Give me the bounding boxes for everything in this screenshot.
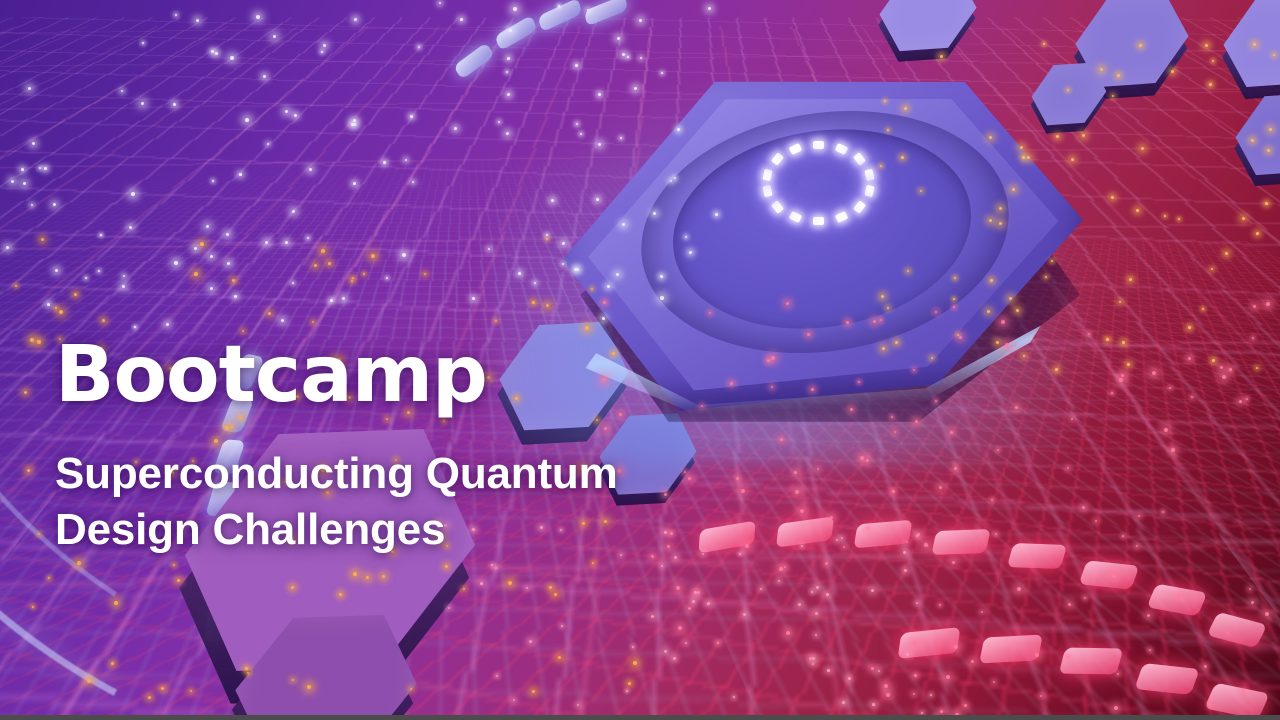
point-light [946, 675, 950, 679]
point-light [129, 226, 132, 229]
point-light [174, 261, 178, 265]
point-light [1136, 209, 1139, 212]
point-light [1111, 196, 1114, 199]
point-light [472, 297, 475, 300]
point-light [1212, 359, 1215, 362]
point-light [914, 674, 917, 677]
point-light [353, 182, 356, 185]
point-light [1251, 139, 1254, 142]
point-light [21, 168, 24, 171]
point-light [904, 569, 907, 572]
qubit-element [853, 153, 866, 167]
point-light [1016, 309, 1019, 312]
point-light [676, 586, 680, 590]
point-light [884, 684, 888, 688]
point-light [48, 577, 50, 579]
hexagon-block-top [222, 609, 430, 720]
point-light [952, 561, 955, 564]
point-light [1001, 320, 1005, 324]
point-light [825, 562, 828, 565]
point-light [371, 254, 375, 258]
point-light [194, 272, 198, 276]
point-light [173, 103, 176, 106]
point-light [798, 603, 801, 606]
point-light [383, 161, 386, 164]
point-light [1204, 665, 1207, 668]
point-light [1188, 326, 1191, 329]
point-light [620, 137, 622, 139]
point-light [1229, 368, 1232, 371]
qubit-element [789, 211, 802, 223]
point-light [1212, 60, 1214, 62]
point-light [148, 696, 151, 699]
point-light [779, 567, 783, 571]
point-light [196, 19, 199, 22]
point-light [997, 449, 999, 451]
qubit-element [864, 168, 874, 181]
point-light [930, 694, 932, 696]
qubit-element [834, 143, 847, 155]
point-light [815, 612, 818, 615]
point-light [858, 381, 860, 383]
slide-subtitle: Superconducting Quantum Design Challenge… [55, 446, 815, 559]
point-light [307, 685, 311, 689]
point-light [1209, 704, 1211, 706]
hexagon-block-top [1218, 0, 1280, 92]
point-light [495, 567, 497, 569]
point-light [954, 467, 957, 470]
point-light [1225, 252, 1228, 255]
point-light [166, 323, 169, 326]
point-light [1162, 511, 1164, 513]
point-light [940, 55, 943, 58]
point-light [1067, 89, 1069, 91]
point-light [913, 369, 915, 371]
point-light [131, 192, 135, 196]
point-light [1117, 673, 1119, 675]
point-light [661, 72, 663, 74]
point-light [786, 631, 790, 635]
point-light [1088, 333, 1090, 335]
point-light [939, 604, 941, 606]
point-light [353, 572, 357, 576]
point-light [1267, 149, 1270, 152]
point-light [546, 238, 548, 240]
point-light [211, 50, 214, 53]
point-light [602, 317, 605, 320]
point-light [1191, 396, 1193, 398]
point-light [1209, 83, 1212, 86]
point-light [1205, 44, 1208, 47]
point-light [591, 288, 593, 290]
point-light [628, 682, 631, 685]
point-light [626, 690, 628, 692]
point-light [996, 341, 999, 344]
point-light [733, 696, 735, 698]
point-light [239, 173, 242, 176]
point-light [558, 5, 560, 7]
contact-pad [931, 529, 991, 555]
page-title: Bootcamp [55, 336, 815, 414]
point-light [496, 675, 498, 677]
point-light [954, 645, 958, 649]
point-light [562, 242, 565, 245]
point-light [491, 564, 493, 566]
point-light [518, 272, 521, 275]
point-light [895, 341, 898, 344]
point-light [291, 586, 294, 589]
point-light [98, 270, 100, 272]
point-light [743, 613, 746, 616]
point-light [692, 600, 695, 603]
point-light [230, 56, 234, 60]
point-light [234, 295, 237, 298]
point-light [574, 268, 577, 271]
point-light [1017, 587, 1021, 591]
hexagon-block-top [1231, 89, 1280, 180]
point-light [850, 408, 853, 411]
point-light [330, 299, 333, 302]
point-light [677, 128, 680, 131]
point-light [913, 641, 917, 645]
point-light [1071, 158, 1074, 161]
point-light [1171, 70, 1174, 73]
point-light [886, 693, 890, 697]
point-light [598, 93, 601, 96]
point-light [498, 121, 500, 123]
point-light [30, 338, 34, 342]
point-light [508, 581, 512, 585]
qubit-element [763, 168, 773, 181]
point-light [402, 253, 406, 257]
point-light [549, 586, 552, 589]
point-light [940, 710, 943, 713]
point-light [1122, 341, 1125, 344]
point-light [507, 57, 510, 60]
point-light [1253, 305, 1256, 308]
point-light [653, 212, 656, 215]
point-light [1005, 343, 1009, 347]
point-light [715, 213, 718, 216]
point-light [1171, 448, 1175, 452]
point-light [872, 703, 875, 706]
point-light [1178, 218, 1180, 220]
point-light [848, 677, 851, 680]
point-light [1265, 202, 1268, 205]
point-light [901, 156, 904, 159]
point-light [285, 241, 288, 244]
point-light [212, 180, 214, 182]
qubit-element [864, 185, 874, 198]
contact-pad [1007, 543, 1067, 569]
point-light [509, 29, 512, 32]
point-light [39, 167, 41, 169]
qubit-element [789, 143, 802, 155]
point-light [339, 593, 342, 596]
point-light [842, 701, 845, 704]
point-light [562, 263, 564, 265]
point-light [957, 334, 959, 336]
qubit-element [834, 211, 847, 223]
point-light [1246, 398, 1248, 400]
point-light [816, 586, 819, 589]
point-light [87, 679, 91, 683]
point-light [880, 319, 882, 321]
point-light [546, 234, 548, 236]
point-light [846, 321, 849, 324]
point-light [964, 704, 967, 707]
point-light [321, 249, 325, 253]
point-light [1082, 506, 1085, 509]
point-light [678, 626, 682, 630]
point-light [454, 127, 457, 130]
point-light [100, 234, 102, 236]
point-light [532, 301, 535, 304]
point-light [1055, 368, 1058, 371]
point-light [77, 561, 81, 565]
point-light [55, 307, 57, 309]
presentation-slide: Bootcamp Superconducting Quantum Design … [0, 0, 1280, 720]
point-light [1035, 653, 1039, 657]
point-light [1152, 371, 1156, 375]
point-light [991, 499, 993, 501]
point-light [987, 310, 990, 313]
point-light [811, 591, 813, 593]
subtitle-line-1: Superconducting Quantum [55, 446, 815, 502]
point-light [268, 312, 271, 315]
point-light [694, 591, 697, 594]
contact-pad [1059, 647, 1124, 674]
point-light [561, 625, 563, 627]
point-light [232, 279, 235, 282]
point-light [386, 277, 388, 279]
point-light [134, 326, 136, 328]
point-light [114, 601, 118, 605]
point-light [1119, 378, 1123, 382]
qubit-element [763, 185, 773, 198]
point-light [263, 75, 266, 78]
point-light [1266, 302, 1270, 306]
point-light [689, 251, 692, 254]
point-light [887, 129, 889, 131]
point-light [1122, 535, 1124, 537]
point-light [292, 282, 294, 284]
point-light [495, 320, 497, 322]
point-light [1222, 375, 1226, 379]
point-light [529, 640, 532, 643]
point-light [867, 527, 869, 529]
point-light [460, 18, 463, 21]
point-light [410, 115, 413, 118]
point-light [1202, 308, 1204, 310]
point-light [1139, 44, 1142, 47]
point-light [328, 262, 331, 265]
point-light [215, 52, 218, 55]
point-light [1265, 612, 1269, 616]
point-light [111, 662, 114, 665]
point-light [175, 14, 177, 16]
point-light [551, 199, 554, 202]
point-light [1111, 392, 1113, 394]
point-light [354, 18, 357, 21]
point-light [632, 646, 634, 648]
point-light [903, 551, 906, 554]
hexagon-block [1231, 89, 1280, 180]
point-light [891, 416, 893, 418]
point-light [53, 203, 56, 206]
point-light [32, 606, 34, 608]
point-light [1022, 156, 1025, 159]
point-light [953, 298, 955, 300]
qubit-ring [748, 128, 888, 238]
point-light [1164, 215, 1166, 217]
point-light [633, 661, 637, 665]
point-light [990, 279, 993, 282]
point-light [314, 264, 317, 267]
subtitle-line-2: Design Challenges [55, 502, 815, 558]
point-light [906, 653, 909, 656]
point-light [1256, 232, 1259, 235]
point-light [950, 431, 953, 434]
point-light [1106, 338, 1109, 341]
point-light [102, 319, 105, 322]
point-light [513, 7, 517, 11]
point-light [673, 657, 676, 660]
qubit-element [813, 141, 824, 149]
point-light [1112, 574, 1116, 578]
point-light [585, 326, 589, 330]
point-light [884, 100, 886, 102]
point-light [245, 667, 248, 670]
point-light [351, 123, 354, 126]
point-light [1043, 43, 1045, 45]
contact-pad [979, 635, 1043, 664]
point-light [596, 198, 599, 201]
point-light [1127, 363, 1130, 366]
point-light [575, 64, 578, 67]
slide-text-block: Bootcamp Superconducting Quantum Design … [55, 336, 815, 559]
point-light [1045, 276, 1047, 278]
point-light [15, 285, 17, 287]
point-light [812, 657, 815, 660]
point-light [256, 15, 260, 19]
point-light [924, 543, 928, 547]
point-light [1056, 135, 1059, 138]
point-light [142, 42, 144, 44]
point-light [921, 712, 923, 714]
point-light [1114, 706, 1118, 710]
point-light [827, 669, 830, 672]
point-light [627, 56, 629, 58]
point-light [177, 579, 180, 582]
point-light [880, 165, 882, 167]
point-light [200, 242, 204, 246]
hexagon-block [222, 609, 430, 720]
point-light [660, 275, 663, 278]
point-light [74, 293, 77, 296]
point-light [664, 650, 667, 653]
point-light [37, 340, 41, 344]
point-light [1084, 597, 1086, 599]
point-light [1164, 428, 1168, 432]
point-light [59, 310, 63, 314]
point-light [507, 93, 510, 96]
point-light [1129, 278, 1132, 281]
qubit-element [853, 200, 866, 214]
point-light [1051, 260, 1053, 262]
point-light [935, 400, 937, 402]
point-light [622, 53, 625, 56]
qubit-element [771, 200, 784, 214]
point-light [607, 285, 610, 288]
qubit-element [771, 153, 784, 167]
qubit-element [813, 217, 824, 225]
point-light [1117, 74, 1120, 77]
point-light [445, 565, 448, 568]
point-light [44, 167, 47, 170]
point-light [1178, 594, 1181, 597]
point-light [892, 490, 895, 493]
point-light [826, 593, 829, 596]
point-light [1188, 357, 1191, 360]
point-light [860, 456, 864, 460]
point-light [47, 303, 50, 306]
point-light [294, 114, 297, 117]
point-light [85, 277, 87, 279]
point-light [707, 602, 710, 605]
hexagon-block [1218, 0, 1280, 92]
point-light [1253, 43, 1256, 46]
point-light [603, 301, 606, 304]
point-light [480, 582, 483, 585]
point-light [580, 133, 582, 135]
point-light [506, 71, 508, 73]
point-light [363, 273, 365, 275]
point-light [685, 236, 687, 238]
point-light [245, 118, 249, 122]
point-light [321, 51, 323, 53]
point-light [953, 306, 955, 308]
point-light [651, 615, 654, 618]
bottom-chrome-bar [0, 715, 1280, 720]
point-light [161, 687, 164, 690]
point-light [904, 107, 907, 110]
point-light [660, 296, 664, 300]
